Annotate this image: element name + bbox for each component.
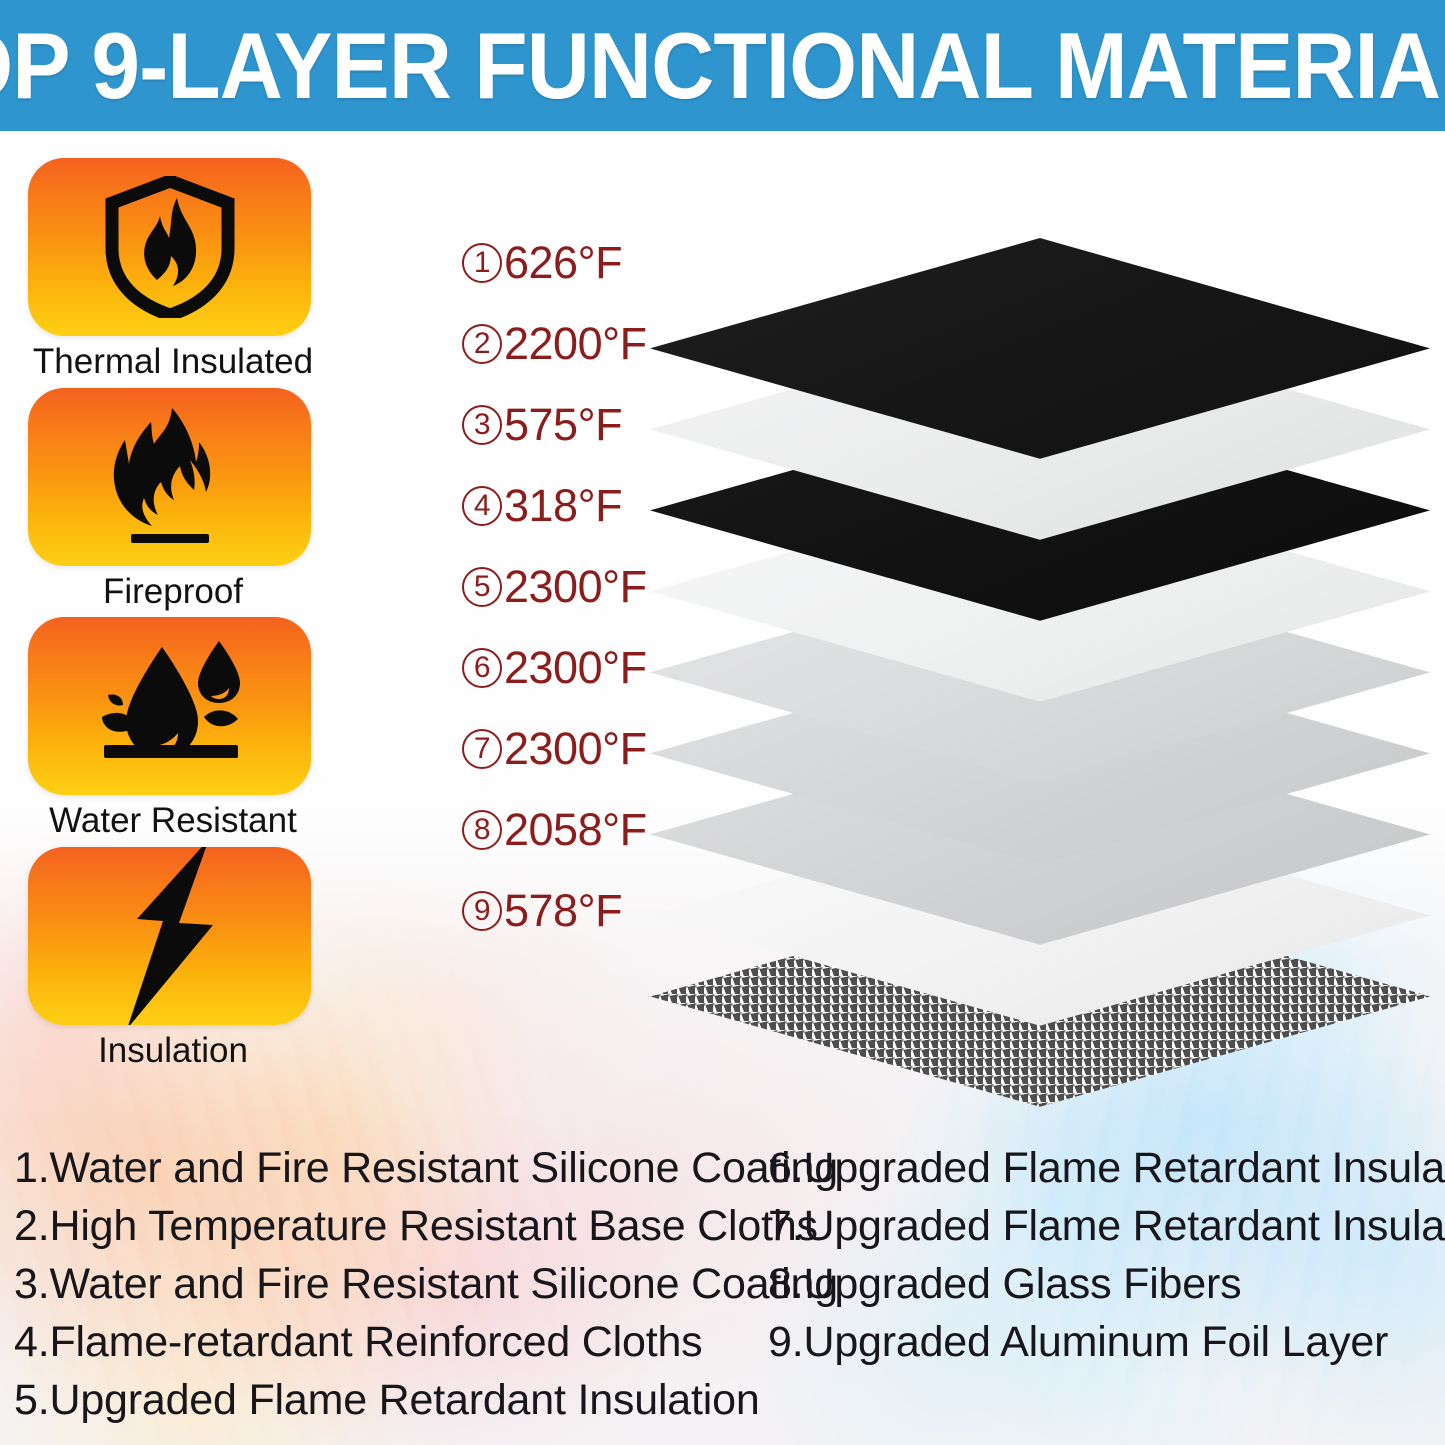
layer-number-badge: 7 — [462, 729, 502, 769]
layer-number-badge: 5 — [462, 567, 502, 607]
lightning-bolt-icon — [105, 847, 235, 1025]
feature-item: Fireproof — [28, 388, 318, 612]
temperature-label: 1 626°F — [462, 222, 682, 303]
layer-number-badge: 9 — [462, 891, 502, 931]
temperature-value: 578°F — [504, 885, 622, 937]
feature-label: Insulation — [28, 1032, 318, 1071]
temperature-label: 7 2300°F — [462, 708, 682, 789]
feature-item: Thermal Insulated — [28, 158, 318, 382]
description-item: 2.High Temperature Resistant Base Cloths — [14, 1197, 734, 1255]
temperature-label: 2 2200°F — [462, 303, 682, 384]
infographic-page: TOP 9-LAYER FUNCTIONAL MATERIALS Thermal… — [0, 0, 1445, 1445]
temperature-label: 4 318°F — [462, 465, 682, 546]
temperature-label: 3 575°F — [462, 384, 682, 465]
layer-sheet — [650, 238, 1430, 468]
description-item: 9.Upgraded Aluminum Foil Layer — [768, 1313, 1438, 1371]
feature-item: Water Resistant — [28, 617, 318, 841]
description-item: 5.Upgraded Flame Retardant Insulation — [14, 1371, 734, 1429]
temperature-value: 2058°F — [504, 804, 647, 856]
temperature-value: 2200°F — [504, 318, 647, 370]
feature-tile — [28, 388, 311, 566]
temperature-value: 2300°F — [504, 642, 647, 694]
shield-flame-icon — [95, 176, 245, 318]
feature-label: Water Resistant — [28, 802, 318, 841]
temperature-label: 9 578°F — [462, 870, 682, 951]
layer-number-badge: 1 — [462, 243, 502, 283]
feature-list: Thermal Insulated Fireproof — [28, 158, 318, 1076]
temperature-value: 2300°F — [504, 723, 647, 775]
temperature-label-list: 1 626°F 2 2200°F 3 575°F 4 318°F 5 2300°… — [462, 222, 682, 951]
description-item: 1.Water and Fire Resistant Silicone Coat… — [14, 1139, 734, 1197]
description-item: 8.Upgraded Glass Fibers — [768, 1255, 1438, 1313]
description-item: 3.Water and Fire Resistant Silicone Coat… — [14, 1255, 734, 1313]
header-banner: TOP 9-LAYER FUNCTIONAL MATERIALS — [0, 0, 1445, 131]
feature-tile — [28, 847, 311, 1025]
description-list-left: 1.Water and Fire Resistant Silicone Coat… — [14, 1139, 734, 1429]
temperature-value: 318°F — [504, 480, 622, 532]
feature-label: Fireproof — [28, 573, 318, 612]
temperature-label: 5 2300°F — [462, 546, 682, 627]
page-title: TOP 9-LAYER FUNCTIONAL MATERIALS — [0, 19, 1445, 113]
layer-number-badge: 2 — [462, 324, 502, 364]
description-item: 7.Upgraded Flame Retardant Insulation — [768, 1197, 1438, 1255]
description-list-right: 6.Upgraded Flame Retardant Insulation 7.… — [768, 1139, 1438, 1371]
material-layer-1 — [650, 238, 1430, 468]
feature-tile — [28, 617, 311, 795]
layer-stack-diagram — [650, 186, 1445, 976]
layer-number-badge: 4 — [462, 486, 502, 526]
layer-number-badge: 6 — [462, 648, 502, 688]
layer-number-badge: 8 — [462, 810, 502, 850]
description-item: 4.Flame-retardant Reinforced Cloths — [14, 1313, 734, 1371]
temperature-value: 626°F — [504, 237, 622, 289]
flame-icon — [96, 404, 244, 550]
temperature-value: 2300°F — [504, 561, 647, 613]
water-droplet-icon — [86, 633, 254, 779]
feature-label: Thermal Insulated — [28, 343, 318, 382]
feature-item: Insulation — [28, 847, 318, 1071]
temperature-label: 6 2300°F — [462, 627, 682, 708]
feature-tile — [28, 158, 311, 336]
description-item: 6.Upgraded Flame Retardant Insulation — [768, 1139, 1438, 1197]
temperature-value: 575°F — [504, 399, 622, 451]
layer-number-badge: 3 — [462, 405, 502, 445]
temperature-label: 8 2058°F — [462, 789, 682, 870]
